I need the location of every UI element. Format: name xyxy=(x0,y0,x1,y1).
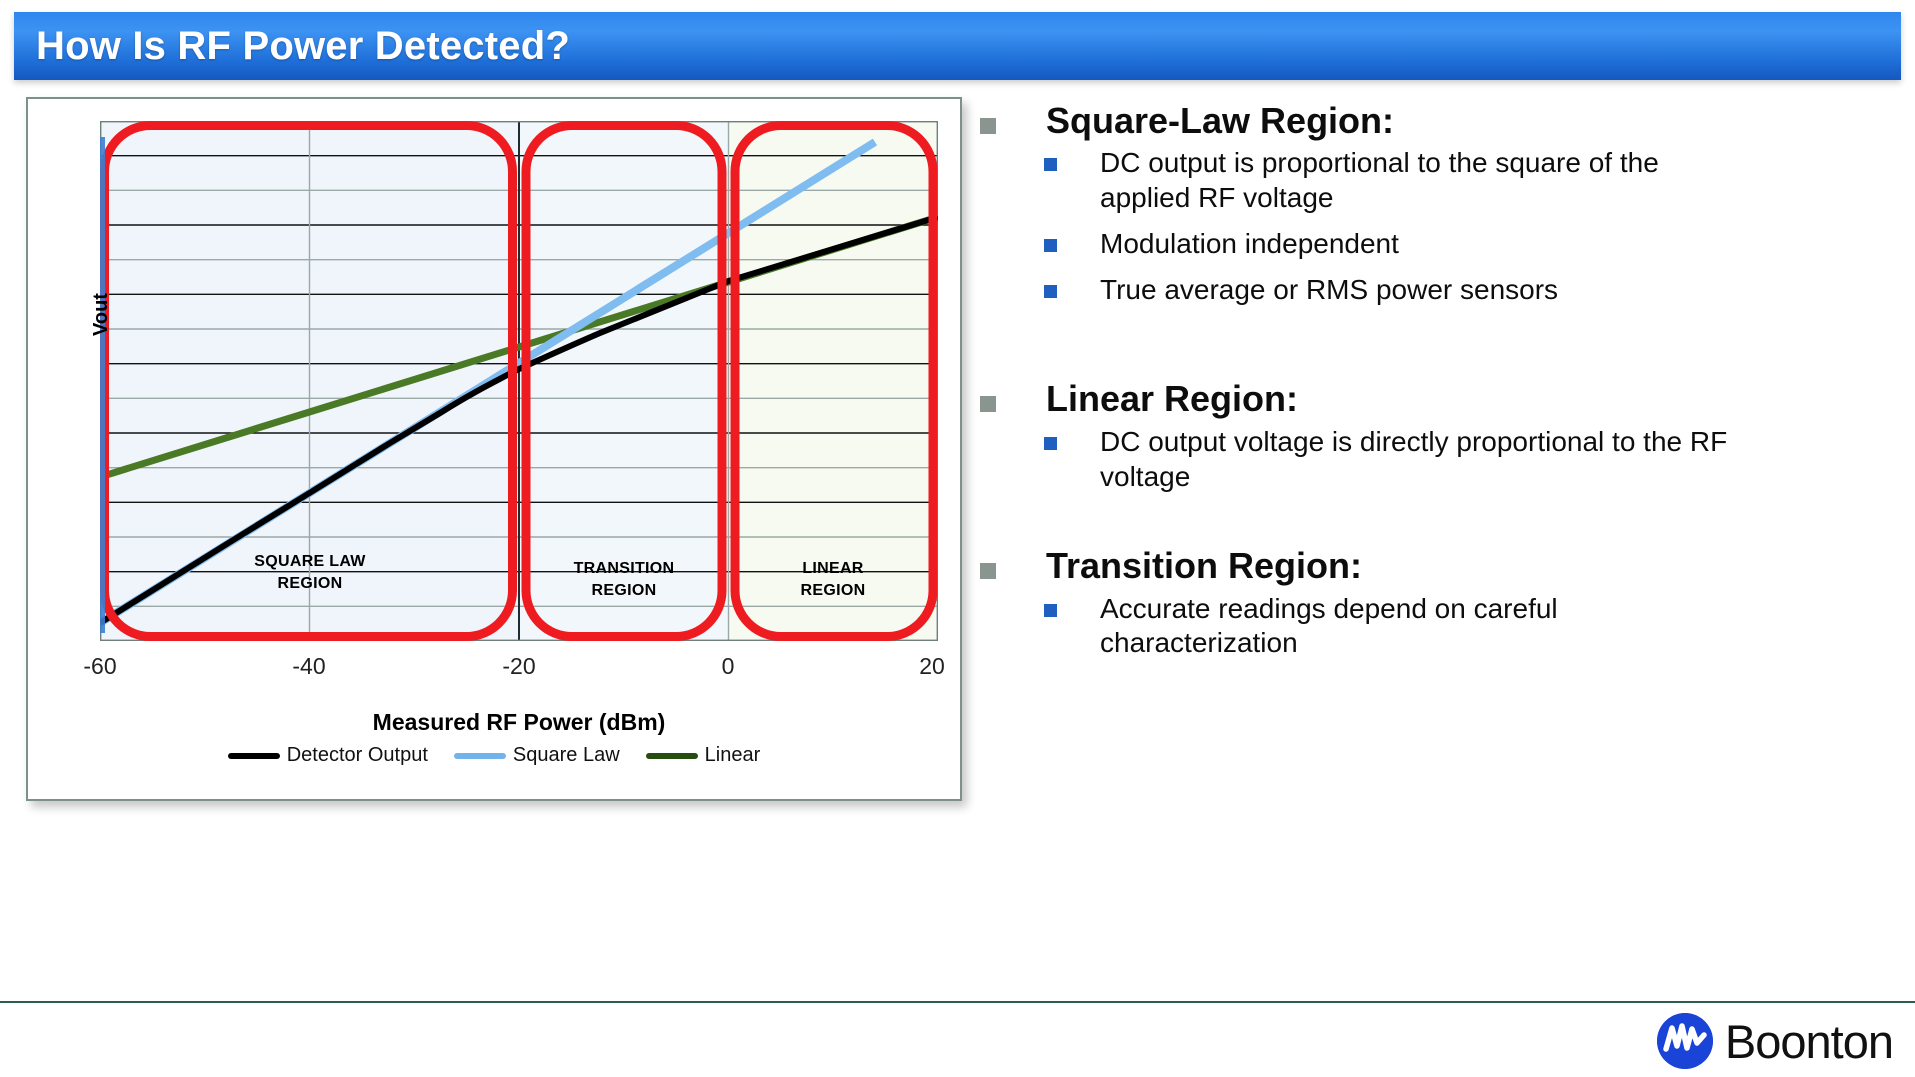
bullet-list: DC output is proportional to the square … xyxy=(980,146,1900,307)
xtick--20: -20 xyxy=(502,653,535,680)
square-bullet-icon xyxy=(980,396,996,412)
square-bullet-icon xyxy=(980,118,996,134)
square-bullet-icon xyxy=(980,563,996,579)
x-axis-title: Measured RF Power (dBm) xyxy=(100,709,938,736)
slide-title-bar: How Is RF Power Detected? xyxy=(14,12,1901,80)
list-item: True average or RMS power sensors xyxy=(1044,273,1900,308)
content-panel: Square-Law Region: DC output is proporti… xyxy=(980,100,1900,940)
section-square-law-region: Square-Law Region: DC output is proporti… xyxy=(980,100,1900,307)
list-item: Modulation independent xyxy=(1044,227,1900,262)
region-label-square-law: SQUARE LAW REGION xyxy=(200,551,420,594)
page-title: How Is RF Power Detected? xyxy=(14,24,570,69)
section-heading: Square-Law Region: xyxy=(1046,100,1394,142)
footer-divider xyxy=(0,1001,1915,1003)
bullet-text: Modulation independent xyxy=(1100,227,1399,262)
square-bullet-icon xyxy=(1044,437,1057,450)
legend-item-square-law: Square Law xyxy=(454,744,620,767)
section-linear-region: Linear Region: DC output voltage is dire… xyxy=(980,378,1900,494)
legend-swatch-square-law xyxy=(454,753,506,759)
legend-item-detector-output: Detector Output xyxy=(228,744,428,767)
bullet-text: DC output is proportional to the square … xyxy=(1100,146,1740,215)
x-axis-tick-labels: -60 -40 -20 0 20 xyxy=(100,653,938,687)
square-bullet-icon xyxy=(1044,158,1057,171)
section-heading: Linear Region: xyxy=(1046,378,1298,420)
boonton-logo: Boonton xyxy=(1657,1012,1893,1070)
spacer xyxy=(980,505,1900,545)
list-item: Accurate readings depend on careful char… xyxy=(1044,592,1900,661)
section-heading-row: Transition Region: xyxy=(980,545,1900,587)
section-heading-row: Linear Region: xyxy=(980,378,1900,420)
boonton-waveform-icon xyxy=(1657,1013,1713,1069)
xtick--40: -40 xyxy=(292,653,325,680)
chart-card: SQUARE LAW REGION TRANSITION REGION LINE… xyxy=(26,97,962,801)
spacer xyxy=(980,318,1900,378)
list-item: DC output voltage is directly proportion… xyxy=(1044,425,1900,494)
list-item: DC output is proportional to the square … xyxy=(1044,146,1900,215)
xtick-0: 0 xyxy=(722,653,735,680)
bullet-text: DC output voltage is directly proportion… xyxy=(1100,425,1740,494)
region-label-linear: LINEAR REGION xyxy=(738,558,928,601)
legend-swatch-linear xyxy=(646,753,698,759)
section-transition-region: Transition Region: Accurate readings dep… xyxy=(980,545,1900,661)
bullet-text: Accurate readings depend on careful char… xyxy=(1100,592,1740,661)
brand-name: Boonton xyxy=(1725,1014,1893,1069)
square-bullet-icon xyxy=(1044,604,1057,617)
bullet-text: True average or RMS power sensors xyxy=(1100,273,1558,308)
legend-swatch-detector-output xyxy=(228,753,280,759)
region-label-transition: TRANSITION REGION xyxy=(529,558,719,601)
legend-label-detector-output: Detector Output xyxy=(287,744,428,767)
bullet-list: Accurate readings depend on careful char… xyxy=(980,592,1900,661)
section-heading-row: Square-Law Region: xyxy=(980,100,1900,142)
square-bullet-icon xyxy=(1044,239,1057,252)
section-heading: Transition Region: xyxy=(1046,545,1362,587)
y-axis-title: Vout xyxy=(90,293,113,336)
bullet-list: DC output voltage is directly proportion… xyxy=(980,425,1900,494)
xtick-20: 20 xyxy=(919,653,945,680)
plot-area: SQUARE LAW REGION TRANSITION REGION LINE… xyxy=(100,121,938,641)
xtick--60: -60 xyxy=(83,653,116,680)
chart-legend: Detector Output Square Law Linear xyxy=(28,744,960,767)
square-bullet-icon xyxy=(1044,285,1057,298)
legend-item-linear: Linear xyxy=(646,744,761,767)
legend-label-linear: Linear xyxy=(705,744,761,767)
legend-label-square-law: Square Law xyxy=(513,744,620,767)
